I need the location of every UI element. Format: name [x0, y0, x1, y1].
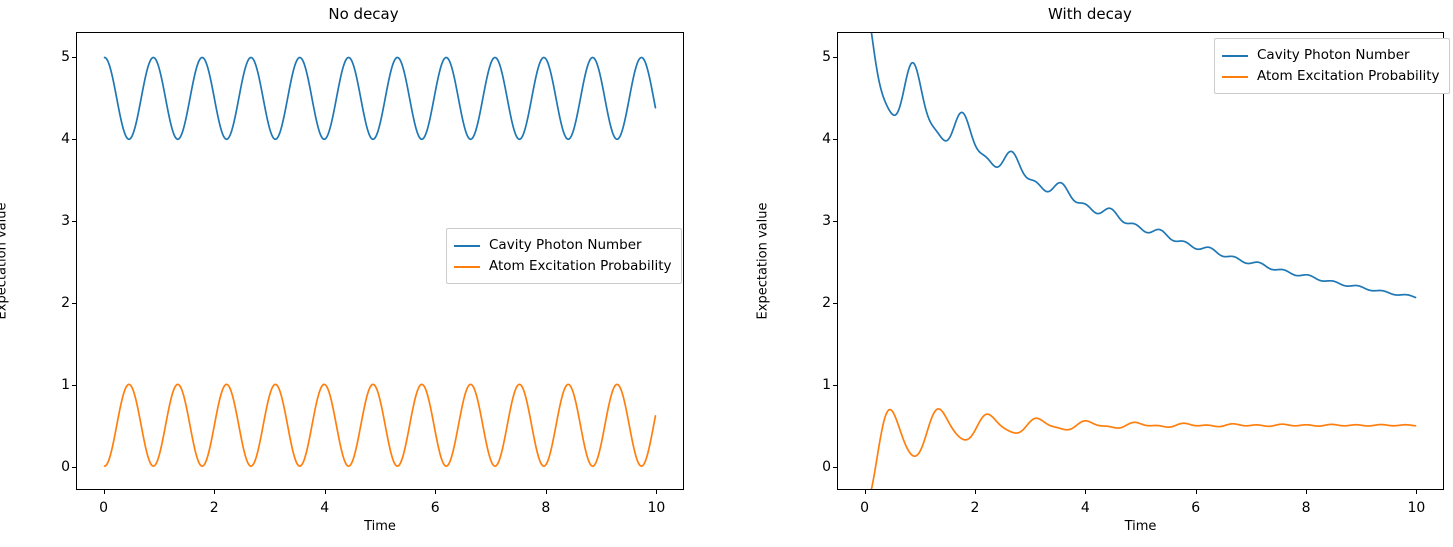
x-tick-label: 2 [210, 494, 219, 516]
legend-with-decay[interactable]: Cavity Photon Number Atom Excitation Pro… [1214, 38, 1450, 94]
y-tick-label: 2 [30, 295, 78, 311]
x-axis-label-with-decay: Time [1125, 519, 1157, 534]
x-tick-label: 8 [541, 494, 550, 516]
legend-swatch-line-icon [454, 266, 480, 268]
line-series-0 [105, 58, 656, 140]
x-tick-label: 4 [1081, 494, 1090, 516]
legend-item-cavity-photon-number[interactable]: Cavity Photon Number [1222, 45, 1440, 66]
legend-swatch-line-icon [1222, 55, 1248, 57]
legend-item-atom-excitation-probability[interactable]: Atom Excitation Probability [454, 256, 672, 277]
y-tick-label: 3 [791, 213, 839, 229]
legend-swatch-line-icon [1222, 76, 1248, 78]
y-axis-label-no-decay: Expectation value [0, 203, 10, 320]
y-axis-label-with-decay: Expectation value [756, 203, 771, 320]
y-tick-label: 3 [30, 213, 78, 229]
legend-item-cavity-photon-number[interactable]: Cavity Photon Number [454, 235, 672, 256]
legend-swatch-line-icon [454, 245, 480, 247]
y-tick-label: 5 [30, 49, 78, 65]
legend-label: Atom Excitation Probability [1257, 70, 1440, 84]
x-tick-label: 4 [320, 494, 329, 516]
legend-label: Cavity Photon Number [1257, 49, 1410, 63]
x-tick-label: 10 [647, 494, 665, 516]
x-tick-label: 8 [1302, 494, 1311, 516]
series-lines-with-decay [838, 33, 1443, 489]
x-axis-label-no-decay: Time [364, 519, 396, 534]
y-tick-label: 0 [791, 459, 839, 475]
y-tick-label: 5 [791, 49, 839, 65]
legend-no-decay[interactable]: Cavity Photon Number Atom Excitation Pro… [446, 228, 682, 284]
panel-no-decay: No decay 0123450246810 Time Expectation … [0, 0, 727, 547]
x-tick-label: 2 [970, 494, 979, 516]
x-tick-label: 6 [431, 494, 440, 516]
legend-item-atom-excitation-probability[interactable]: Atom Excitation Probability [1222, 66, 1440, 87]
panel-with-decay: With decay 0123450246810 Time Expectatio… [727, 0, 1453, 547]
y-tick-label: 4 [30, 131, 78, 147]
y-tick-label: 0 [30, 459, 78, 475]
x-tick-label: 0 [99, 494, 108, 516]
legend-label: Atom Excitation Probability [489, 260, 672, 274]
y-tick-label: 1 [30, 377, 78, 393]
x-tick-label: 0 [860, 494, 869, 516]
y-tick-label: 4 [791, 131, 839, 147]
figure-canvas: No decay 0123450246810 Time Expectation … [0, 0, 1453, 547]
legend-label: Cavity Photon Number [489, 239, 642, 253]
y-tick-label: 2 [791, 295, 839, 311]
panel-title-no-decay: No decay [0, 5, 727, 23]
plot-area-with-decay [837, 32, 1444, 490]
y-tick-label: 1 [791, 377, 839, 393]
line-series-1 [865, 409, 1415, 489]
x-tick-label: 10 [1407, 494, 1425, 516]
x-tick-label: 6 [1191, 494, 1200, 516]
line-series-1 [105, 384, 656, 466]
panel-title-with-decay: With decay [727, 5, 1453, 23]
